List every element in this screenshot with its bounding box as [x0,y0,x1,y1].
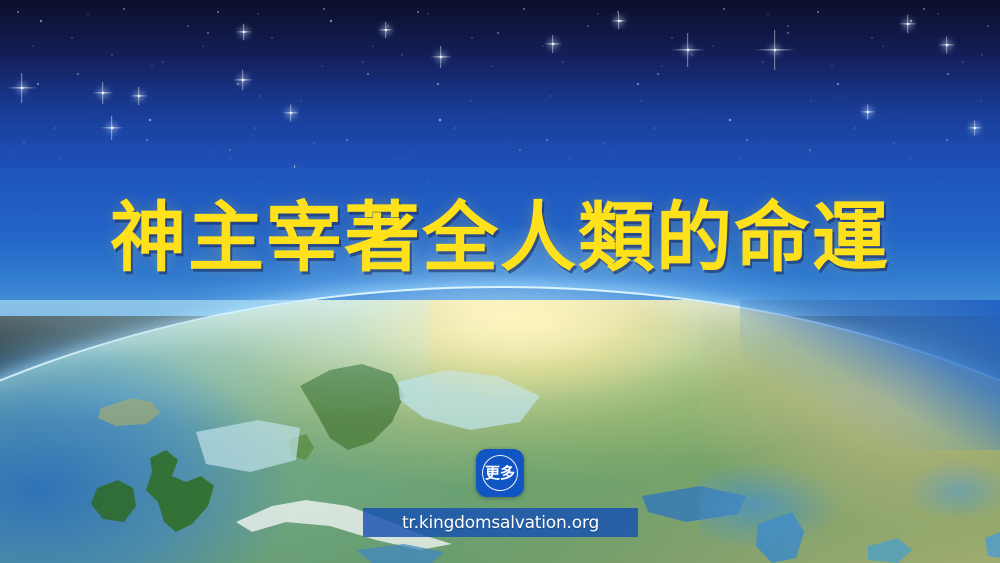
night-sky-background [0,0,1000,170]
website-url-text: tr.kingdomsalvation.org [402,513,599,533]
slide-canvas: 神主宰著全人類的命運 更多 tr.kingdomsalvation.org [0,0,1000,563]
more-button-label: 更多 [476,449,524,497]
slide-title: 神主宰著全人類的命運 [0,196,1000,280]
website-url-banner[interactable]: tr.kingdomsalvation.org [363,508,638,537]
more-button[interactable]: 更多 [476,449,524,497]
